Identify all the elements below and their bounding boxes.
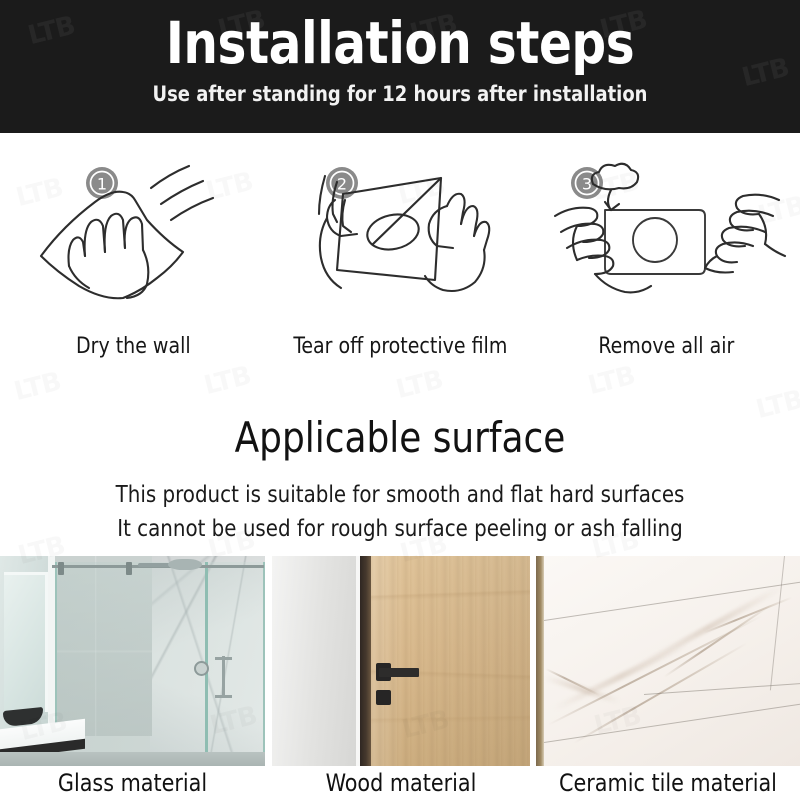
header-band: Installation steps Use after standing fo… <box>0 0 800 133</box>
page-title: Installation steps <box>28 8 772 78</box>
material-photo-wood <box>272 556 530 766</box>
step-item-2: 2 <box>267 140 534 370</box>
ceramic-tile-photo <box>536 556 800 766</box>
step-caption-2: Tear off protective film <box>272 334 528 360</box>
description-line-1: This product is suitable for smooth and … <box>16 478 784 512</box>
glass-shower-photo <box>0 556 265 766</box>
wooden-door-photo <box>272 556 530 766</box>
applicable-surface-description: This product is suitable for smooth and … <box>0 478 800 546</box>
description-line-2: It cannot be used for rough surface peel… <box>16 512 784 546</box>
installation-steps-row: 1 <box>0 140 800 370</box>
material-photo-glass <box>0 556 265 766</box>
material-panels-row <box>0 556 800 766</box>
step-caption-3: Remove all air <box>539 334 795 360</box>
material-caption-glass: Glass material <box>5 768 259 798</box>
infographic-page: Installation steps Use after standing fo… <box>0 0 800 800</box>
watermark: LTB <box>393 365 446 405</box>
section-title-applicable-surface: Applicable surface <box>20 413 780 463</box>
step-illustration-3 <box>533 148 800 313</box>
step-caption-1: Dry the wall <box>5 334 261 360</box>
step-item-3: 3 <box>533 140 800 370</box>
material-photo-ceramic-tile <box>536 556 800 766</box>
material-caption-wood: Wood material <box>277 768 525 798</box>
step-item-1: 1 <box>0 140 267 370</box>
step-illustration-2 <box>267 148 534 313</box>
page-subtitle: Use after standing for 12 hours after in… <box>20 81 780 107</box>
watermark: LTB <box>11 367 64 407</box>
material-caption-ceramic-tile: Ceramic tile material <box>541 768 794 798</box>
step-illustration-1 <box>0 148 267 313</box>
